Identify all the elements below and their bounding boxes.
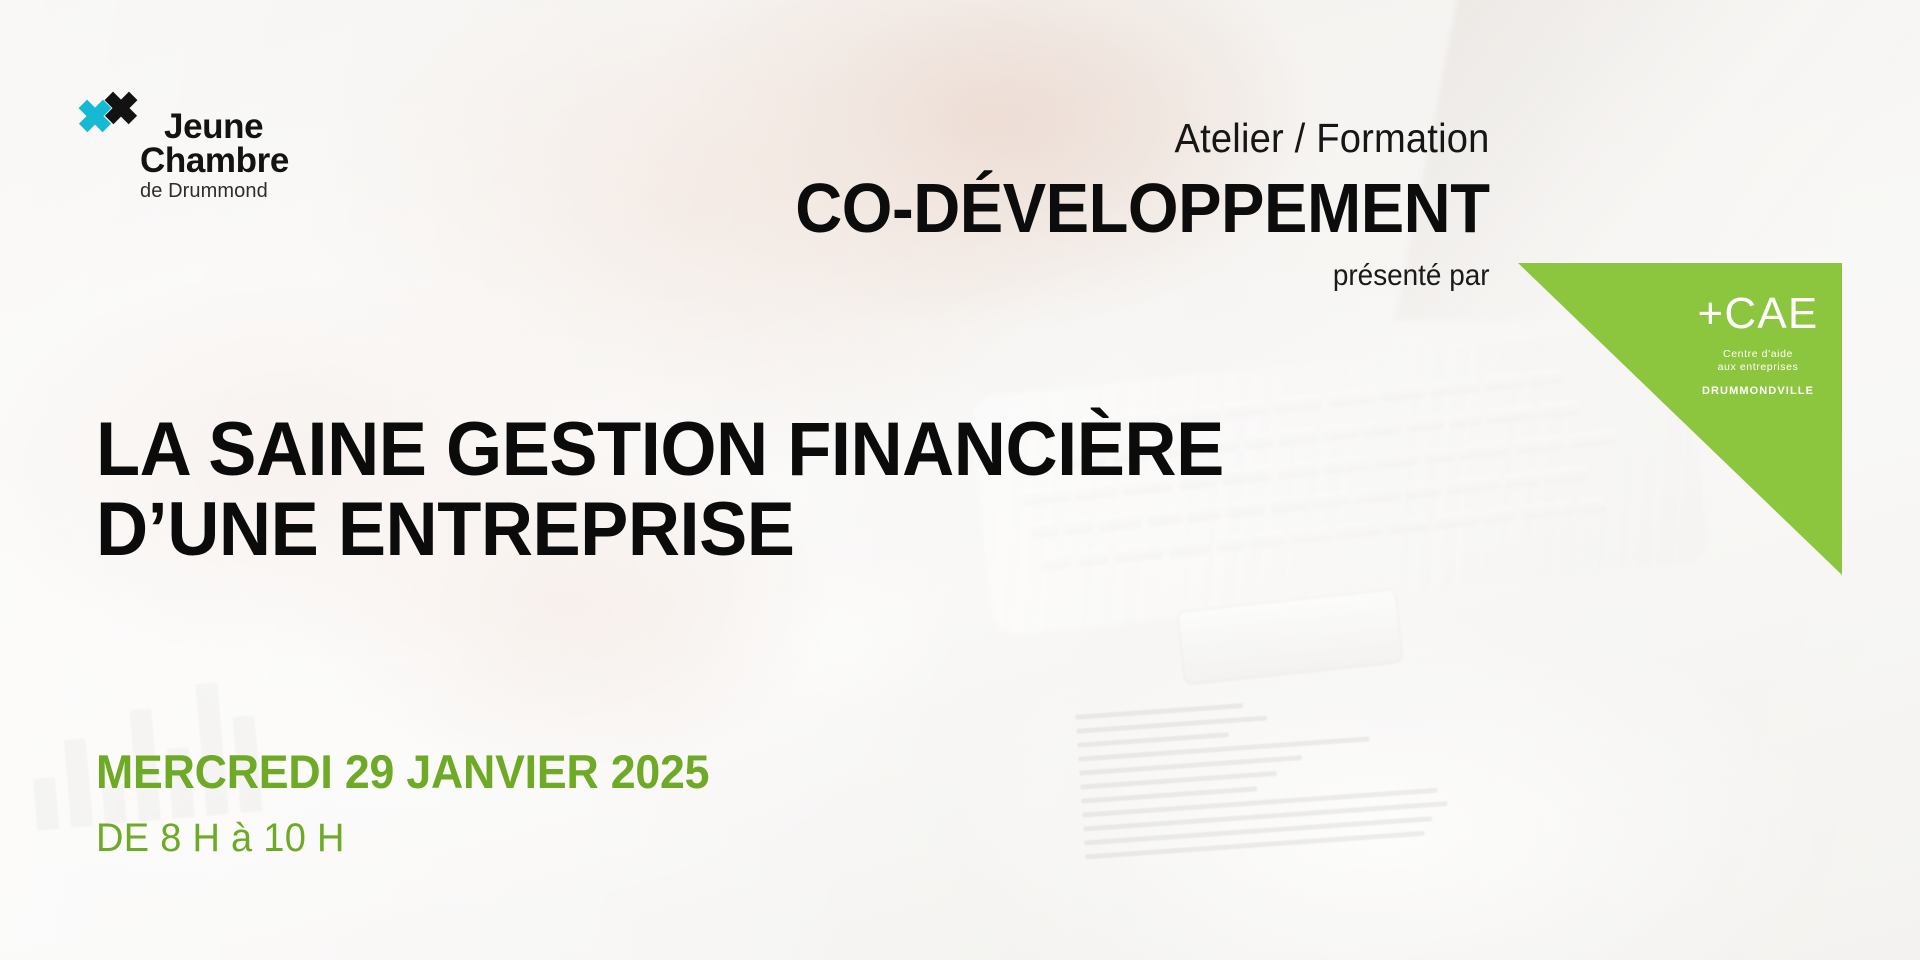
black-x-icon — [104, 91, 138, 125]
headline-line1: LA SAINE GESTION FINANCIÈRE — [96, 410, 1224, 490]
sponsor-tagline-line1: Centre d'aide — [1690, 348, 1826, 361]
headline-line2: D’UNE ENTREPRISE — [96, 490, 1224, 570]
organizer-logo-wordmark: Jeune Chambre de Drummond — [164, 110, 289, 203]
headline: LA SAINE GESTION FINANCIÈRE D’UNE ENTREP… — [96, 410, 1224, 570]
sponsor-logo: +CAE Centre d'aide aux entreprises DRUMM… — [1690, 292, 1826, 397]
sponsor-logo-tagline: Centre d'aide aux entreprises — [1690, 348, 1826, 374]
header-title: CO-DÉVELOPPEMENT — [796, 173, 1490, 243]
organizer-logo: Jeune Chambre de Drummond — [78, 88, 150, 144]
sponsor-logo-city: DRUMMONDVILLE — [1690, 385, 1826, 397]
organizer-logo-line1: Jeune — [164, 110, 289, 144]
organizer-logo-line2: Chambre — [140, 144, 289, 178]
event-time: DE 8 H à 10 H — [96, 818, 345, 858]
event-date: MERCREDI 29 JANVIER 2025 — [96, 748, 709, 795]
sponsor-logo-name: +CAE — [1690, 292, 1826, 336]
sponsor-tagline-line2: aux entreprises — [1690, 361, 1826, 374]
organizer-logo-line3: de Drummond — [140, 180, 289, 203]
jeune-chambre-x-mark-icon — [78, 88, 150, 144]
header-kicker: Atelier / Formation — [796, 118, 1490, 159]
header-byline: présenté par — [796, 261, 1490, 291]
header-block: Atelier / Formation CO-DÉVELOPPEMENT pré… — [743, 118, 1490, 291]
